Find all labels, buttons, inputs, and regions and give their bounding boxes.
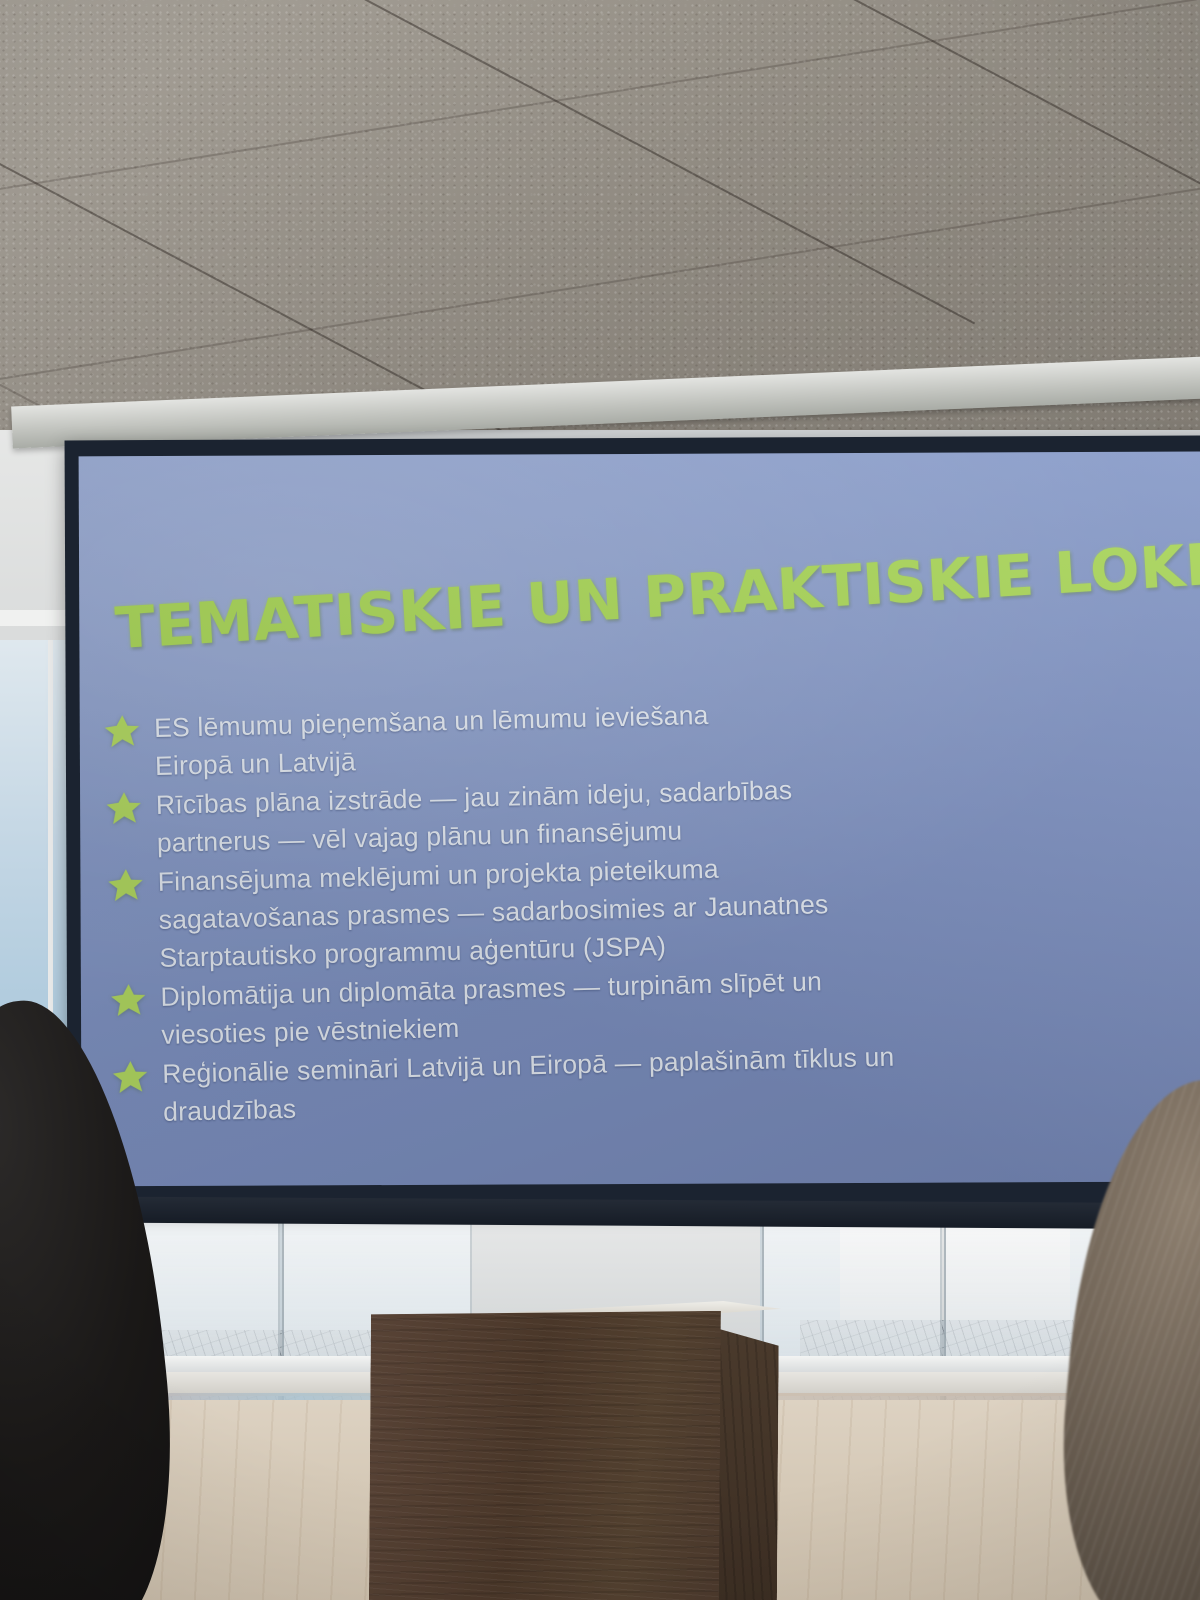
star-icon (112, 1059, 149, 1094)
star-icon (104, 713, 141, 748)
presentation-slide: TEMATISKIE UN PRAKTISKIE LOKI ES lēmumu … (79, 451, 1200, 1186)
lectern (359, 1290, 816, 1600)
star-icon (110, 982, 147, 1017)
slide-bullet-list: ES lēmumu pieņemšana un lēmumu ieviešana… (98, 684, 1200, 1133)
lectern-front-panel (369, 1308, 721, 1600)
projection-screen: TEMATISKIE UN PRAKTISKIE LOKI ES lēmumu … (62, 412, 1200, 1224)
lectern-side-panel (717, 1329, 779, 1600)
star-icon (106, 790, 143, 825)
slide-title: TEMATISKIE UN PRAKTISKIE LOKI (113, 537, 1135, 662)
screenshot-stage: TEMATISKIE UN PRAKTISKIE LOKI ES lēmumu … (0, 0, 1200, 1600)
screen-frame: TEMATISKIE UN PRAKTISKIE LOKI ES lēmumu … (65, 435, 1200, 1210)
star-icon (107, 867, 144, 902)
